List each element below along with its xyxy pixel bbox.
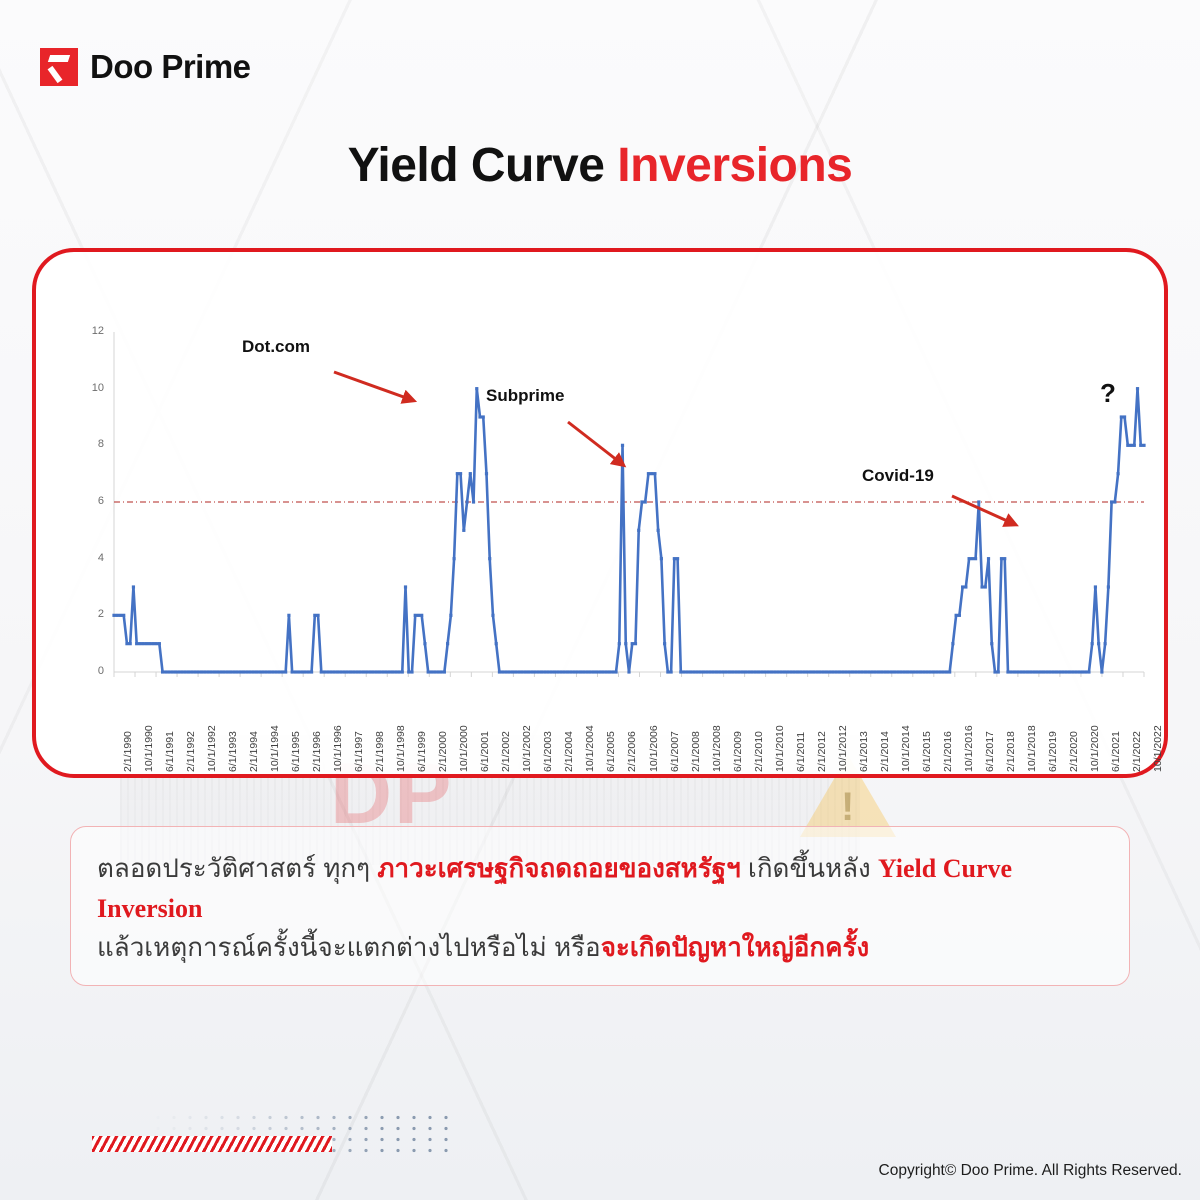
x-axis-tick-label: 6/1/2017	[984, 676, 996, 772]
y-axis-tick-label: 6	[74, 495, 104, 507]
x-axis-tick-label: 6/1/1993	[227, 676, 239, 772]
y-axis-tick-label: 2	[74, 608, 104, 620]
x-axis-tick-label: 2/1/2010	[753, 676, 765, 772]
x-axis-tick-label: 2/1/2002	[500, 676, 512, 772]
page-title-dark: Yield Curve	[348, 139, 618, 192]
x-axis-tick-label: 10/1/1996	[332, 676, 344, 772]
doo-prime-logo-icon	[40, 48, 78, 86]
chart-plot-area	[114, 332, 1144, 672]
x-axis-tick-label: 10/1/1998	[395, 676, 407, 772]
x-axis-tick-label: 2/1/1992	[185, 676, 197, 772]
x-axis-tick-label: 10/1/2006	[648, 676, 660, 772]
x-axis-tick-label: 6/1/2013	[858, 676, 870, 772]
caption-1-red: ภาวะเศรษฐกิจถดถอยของสหรัฐฯ	[377, 853, 740, 883]
x-axis-tick-label: 6/1/1997	[353, 676, 365, 772]
caption-3-a: แล้วเหตุการณ์ครั้งนี้จะแตกต่างไปหรือไม่ …	[97, 932, 601, 962]
x-axis-tick-label: 6/1/2009	[732, 676, 744, 772]
annotation-covid19: Covid-19	[862, 466, 934, 486]
x-axis-tick-label: 2/1/1998	[374, 676, 386, 772]
y-axis-tick-label: 12	[74, 325, 104, 337]
x-axis-tick-label: 10/1/2008	[711, 676, 723, 772]
x-axis-tick-label: 2/1/2008	[690, 676, 702, 772]
x-axis-tick-label: 6/1/2015	[921, 676, 933, 772]
x-axis-tick-label: 6/1/2001	[479, 676, 491, 772]
x-axis-tick-label: 6/1/1995	[290, 676, 302, 772]
x-axis-tick-label: 6/1/1999	[416, 676, 428, 772]
x-axis-tick-label: 10/1/1992	[206, 676, 218, 772]
brand-logo: Doo Prime	[40, 48, 251, 86]
x-axis-tick-label: 6/1/2019	[1047, 676, 1059, 772]
x-axis-tick-label: 6/1/2021	[1110, 676, 1122, 772]
x-axis-tick-label: 10/1/2012	[837, 676, 849, 772]
caption-1-red-en: Yield Curve	[878, 854, 1012, 883]
x-axis-tick-label: 10/1/2004	[584, 676, 596, 772]
annotation-question: ?	[1100, 378, 1116, 409]
x-axis-tick-label: 10/1/2018	[1026, 676, 1038, 772]
x-axis-tick-label: 2/1/2004	[563, 676, 575, 772]
x-axis-tick-label: 10/1/2016	[963, 676, 975, 772]
caption-line-2: Inversion	[97, 889, 1103, 929]
y-axis-tick-label: 10	[74, 382, 104, 394]
x-axis-tick-label: 10/1/1994	[269, 676, 281, 772]
x-axis-tick-label: 6/1/2005	[605, 676, 617, 772]
caption-3-red: จะเกิดปัญหาใหญ่อีกครั้ง	[601, 932, 870, 962]
x-axis-tick-label: 2/1/2006	[626, 676, 638, 772]
y-axis-tick-label: 4	[74, 552, 104, 564]
x-axis-tick-label: 2/1/2018	[1005, 676, 1017, 772]
x-axis-tick-label: 2/1/2000	[437, 676, 449, 772]
yield-curve-line-chart	[114, 332, 1144, 672]
x-axis-tick-label: 10/1/2000	[458, 676, 470, 772]
x-axis-tick-label: 6/1/1991	[164, 676, 176, 772]
caption-line-1: ตลอดประวัติศาสตร์ ทุกๆ ภาวะเศรษฐกิจถดถอย…	[97, 849, 1103, 889]
caption-1-b: เกิดขึ้นหลัง	[741, 853, 878, 883]
x-axis-tick-label: 2/1/2012	[816, 676, 828, 772]
y-axis-tick-label: 8	[74, 438, 104, 450]
caption-line-3: แล้วเหตุการณ์ครั้งนี้จะแตกต่างไปหรือไม่ …	[97, 928, 1103, 968]
x-axis-tick-label: 2/1/1990	[122, 676, 134, 772]
x-axis-tick-label: 2/1/2022	[1131, 676, 1143, 772]
annotation-dotcom: Dot.com	[242, 337, 310, 357]
x-axis-tick-label: 2/1/1996	[311, 676, 323, 772]
x-axis-tick-label: 2/1/2014	[879, 676, 891, 772]
caption-box: ตลอดประวัติศาสตร์ ทุกๆ ภาวะเศรษฐกิจถดถอย…	[70, 826, 1130, 986]
x-axis-tick-label: 10/1/2002	[521, 676, 533, 772]
brand-name: Doo Prime	[90, 48, 251, 86]
x-axis-tick-label: 2/1/1994	[248, 676, 260, 772]
x-axis-tick-label: 10/1/2014	[900, 676, 912, 772]
annotation-subprime: Subprime	[486, 386, 564, 406]
x-axis-tick-label: 2/1/2016	[942, 676, 954, 772]
x-axis-tick-label: 10/1/2022	[1152, 676, 1164, 772]
chart-series-line	[114, 389, 1144, 672]
caption-1-a: ตลอดประวัติศาสตร์ ทุกๆ	[97, 853, 377, 883]
x-axis-tick-label: 2/1/2020	[1068, 676, 1080, 772]
page-title-accent: Inversions	[617, 139, 852, 192]
x-axis-tick-label: 6/1/2011	[795, 676, 807, 772]
chart-inner: 024681012 2/1/199010/1/19906/1/19912/1/1…	[36, 252, 1164, 774]
x-axis-tick-label: 10/1/2010	[774, 676, 786, 772]
x-axis-tick-label: 10/1/2020	[1089, 676, 1101, 772]
caption-2-red-en: Inversion	[97, 894, 202, 923]
decorative-stripe-bar	[92, 1136, 332, 1152]
page-title: Yield Curve Inversions	[0, 138, 1200, 193]
chart-card: 024681012 2/1/199010/1/19906/1/19912/1/1…	[32, 248, 1168, 778]
x-axis: 2/1/199010/1/19906/1/19912/1/199210/1/19…	[114, 676, 1144, 772]
x-axis-tick-label: 10/1/1990	[143, 676, 155, 772]
x-axis-tick-label: 6/1/2003	[542, 676, 554, 772]
x-axis-tick-label: 6/1/2007	[669, 676, 681, 772]
y-axis-tick-label: 0	[74, 665, 104, 677]
footer-copyright: Copyright© Doo Prime. All Rights Reserve…	[879, 1162, 1182, 1180]
